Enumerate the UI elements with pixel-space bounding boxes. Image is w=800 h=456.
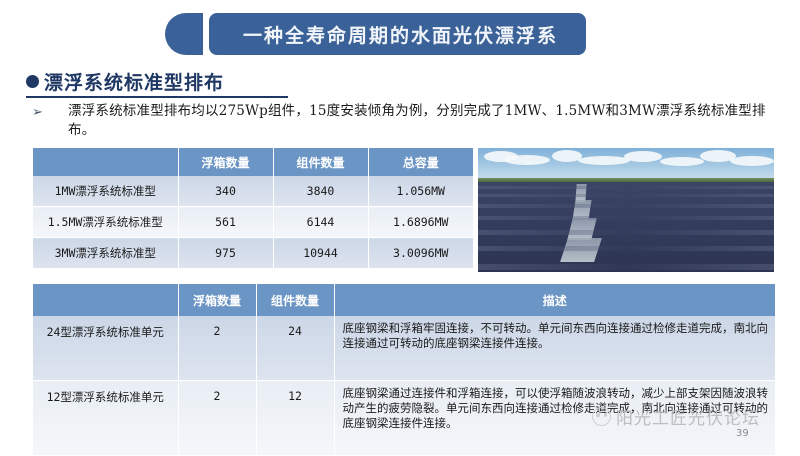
table-header-row: 浮箱数量 组件数量 总容量: [33, 148, 473, 176]
table2-cell-floats: 2: [178, 381, 256, 456]
table2-cell-description: 底座钢梁和浮箱牢固连接，不可转动。单元间东西向连接通过检修走道完成，南北向连接通…: [334, 316, 775, 381]
table1-row-label: 1MW漂浮系统标准型: [33, 176, 178, 207]
floating-solar-farm-photo: [478, 148, 774, 272]
table2-cell-modules: 12: [256, 381, 334, 456]
table2-row-label: 12型漂浮系统标准单元: [33, 381, 178, 456]
table2-header-blank: [33, 284, 178, 316]
table-row: 3MW漂浮系统标准型 975 10944 3.0096MW: [33, 238, 473, 269]
bullet-paragraph-text: 漂浮系统标准型排布均以275Wp组件，15度安装倾角为例，分别完成了1MW、1.…: [68, 102, 772, 140]
table2-cell-floats: 2: [178, 316, 256, 381]
table1-header-module-count: 组件数量: [273, 148, 368, 176]
table2-row-label: 24型漂浮系统标准单元: [33, 316, 178, 381]
table2-cell-modules: 24: [256, 316, 334, 381]
photo-panel-array: [478, 182, 774, 272]
title-banner-box: 一种全寿命周期的水面光伏漂浮系: [209, 13, 586, 55]
table1-cell-capacity: 1.056MW: [368, 176, 473, 207]
table1-cell-floats: 975: [178, 238, 273, 269]
table2-header-description: 描述: [334, 284, 775, 316]
table1-cell-modules: 10944: [273, 238, 368, 269]
watermark-text: 阳光工匠光伏论坛: [616, 404, 760, 429]
table1-row-label: 1.5MW漂浮系统标准型: [33, 207, 178, 238]
standard-layout-table: 浮箱数量 组件数量 总容量 1MW漂浮系统标准型 340 3840 1.056M…: [33, 148, 473, 269]
table1-cell-modules: 6144: [273, 207, 368, 238]
table-row: 1MW漂浮系统标准型 340 3840 1.056MW: [33, 176, 473, 207]
standard-unit-table: 浮箱数量 组件数量 描述 24型漂浮系统标准单元 2 24 底座钢梁和浮箱牢固连…: [33, 284, 775, 456]
watermark: 阳光工匠光伏论坛: [592, 404, 760, 429]
table-row: 1.5MW漂浮系统标准型 561 6144 1.6896MW: [33, 207, 473, 238]
arrow-bullet-icon: ➢: [32, 102, 68, 121]
title-banner-pill: [165, 13, 203, 55]
page-number: 39: [736, 428, 749, 439]
photo-sky: [478, 148, 774, 182]
bullet-paragraph: ➢ 漂浮系统标准型排布均以275Wp组件，15度安装倾角为例，分别完成了1MW、…: [32, 102, 772, 140]
section-underline: [26, 96, 288, 98]
table1-row-label: 3MW漂浮系统标准型: [33, 238, 178, 269]
section-header: 漂浮系统标准型排布: [26, 68, 224, 95]
table1-cell-floats: 561: [178, 207, 273, 238]
table1-header-blank: [33, 148, 178, 176]
table1-cell-capacity: 3.0096MW: [368, 238, 473, 269]
table2-header-float-count: 浮箱数量: [178, 284, 256, 316]
table2-header-module-count: 组件数量: [256, 284, 334, 316]
table1-cell-floats: 340: [178, 176, 273, 207]
slide-title-banner: 一种全寿命周期的水面光伏漂浮系: [165, 12, 586, 56]
table1-cell-capacity: 1.6896MW: [368, 207, 473, 238]
table-row: 24型漂浮系统标准单元 2 24 底座钢梁和浮箱牢固连接，不可转动。单元间东西向…: [33, 316, 775, 381]
table1-header-total-capacity: 总容量: [368, 148, 473, 176]
page-title: 一种全寿命周期的水面光伏漂浮系: [243, 21, 558, 48]
table-header-row: 浮箱数量 组件数量 描述: [33, 284, 775, 316]
table1-cell-modules: 3840: [273, 176, 368, 207]
section-title: 漂浮系统标准型排布: [44, 68, 224, 95]
bullet-dot-icon: [26, 75, 39, 88]
watermark-logo-icon: [592, 407, 611, 426]
table1-header-float-count: 浮箱数量: [178, 148, 273, 176]
